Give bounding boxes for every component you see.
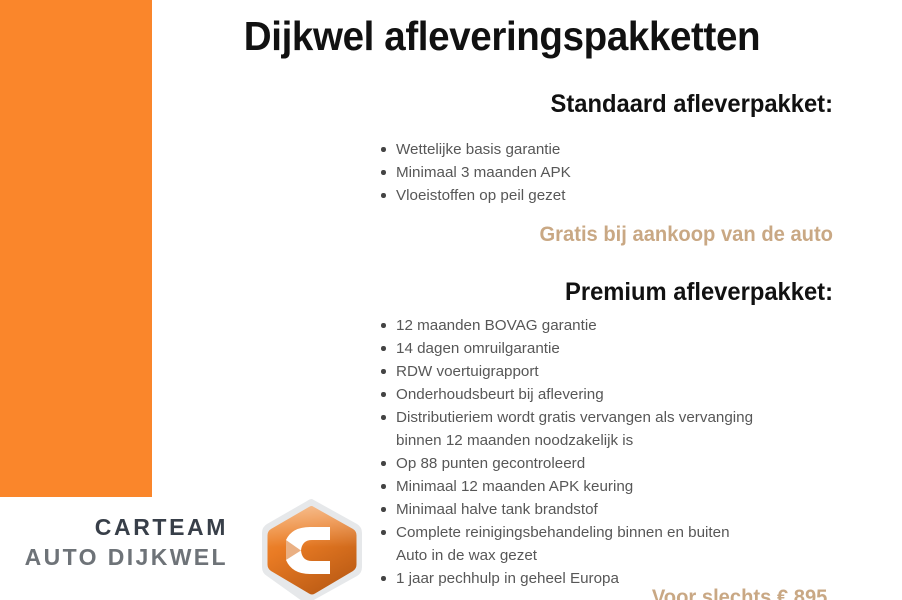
bullet-dot-icon xyxy=(381,530,386,535)
bullet-dot-icon xyxy=(381,415,386,420)
list-item-label: 14 dagen omruilgarantie xyxy=(396,337,833,360)
hex-gloss xyxy=(268,506,357,547)
premium-feature-list: 12 maanden BOVAG garantie 14 dagen omrui… xyxy=(378,314,833,590)
bullet-dot-icon xyxy=(381,170,386,175)
promo-premium-price: Voor slechts € 895, xyxy=(398,585,833,600)
list-item: Wettelijke basis garantie xyxy=(378,138,833,161)
bullet-dot-icon xyxy=(381,392,386,397)
list-item-label: Op 88 punten gecontroleerd xyxy=(396,452,833,475)
bullet-dot-icon xyxy=(381,346,386,351)
list-item-label: RDW voertuigrapport xyxy=(396,360,833,383)
list-item-continuation: Auto in de wax gezet xyxy=(396,544,833,567)
list-item: 12 maanden BOVAG garantie xyxy=(378,314,833,337)
list-item-label: Distributieriem wordt gratis vervangen a… xyxy=(396,406,833,429)
list-item-continuation: binnen 12 maanden noodzakelijk is xyxy=(396,429,833,452)
carteam-hex-logo-icon xyxy=(256,497,368,600)
list-item: Vloeistoffen op peil gezet xyxy=(378,184,833,207)
bullet-dot-icon xyxy=(381,323,386,328)
bullet-dot-icon xyxy=(381,193,386,198)
list-item-label: Vloeistoffen op peil gezet xyxy=(396,184,833,207)
list-item: Distributieriem wordt gratis vervangen a… xyxy=(378,406,833,452)
list-item: 14 dagen omruilgarantie xyxy=(378,337,833,360)
promo-gratis-bij-aankoop: Gratis bij aankoop van de auto xyxy=(398,222,833,248)
bullet-dot-icon xyxy=(381,507,386,512)
list-item: Minimaal 12 maanden APK keuring xyxy=(378,475,833,498)
page-title: Dijkwel afleveringspakketten xyxy=(173,10,831,62)
list-item: Complete reinigingsbehandeling binnen en… xyxy=(378,521,833,567)
list-item: Op 88 punten gecontroleerd xyxy=(378,452,833,475)
bullet-dot-icon xyxy=(381,369,386,374)
list-item: Minimaal 3 maanden APK xyxy=(378,161,833,184)
list-item: Minimaal halve tank brandstof xyxy=(378,498,833,521)
list-item: RDW voertuigrapport xyxy=(378,360,833,383)
bullet-dot-icon xyxy=(381,484,386,489)
standaard-feature-list: Wettelijke basis garantie Minimaal 3 maa… xyxy=(378,138,833,207)
brand-name-auto-dijkwel: AUTO DIJKWEL xyxy=(0,542,228,572)
poster-canvas: Dijkwel afleveringspakketten Standaard a… xyxy=(0,0,902,600)
list-item-label: Minimaal 12 maanden APK keuring xyxy=(396,475,833,498)
list-item-label: Minimaal halve tank brandstof xyxy=(396,498,833,521)
list-item-label: 12 maanden BOVAG garantie xyxy=(396,314,833,337)
list-item-label: Wettelijke basis garantie xyxy=(396,138,833,161)
list-item-label: Minimaal 3 maanden APK xyxy=(396,161,833,184)
bullet-dot-icon xyxy=(381,576,386,581)
brand-wordmark: CARTEAM AUTO DIJKWEL xyxy=(0,512,240,572)
bullet-dot-icon xyxy=(381,461,386,466)
heading-standaard-pakket: Standaard afleverpakket: xyxy=(403,89,833,119)
brand-name-carteam: CARTEAM xyxy=(0,512,228,542)
list-item-label: Onderhoudsbeurt bij aflevering xyxy=(396,383,833,406)
bullet-dot-icon xyxy=(381,147,386,152)
heading-premium-pakket: Premium afleverpakket: xyxy=(403,277,833,307)
list-item: Onderhoudsbeurt bij aflevering xyxy=(378,383,833,406)
orange-accent-bar xyxy=(0,0,152,497)
list-item-label: Complete reinigingsbehandeling binnen en… xyxy=(396,521,833,544)
